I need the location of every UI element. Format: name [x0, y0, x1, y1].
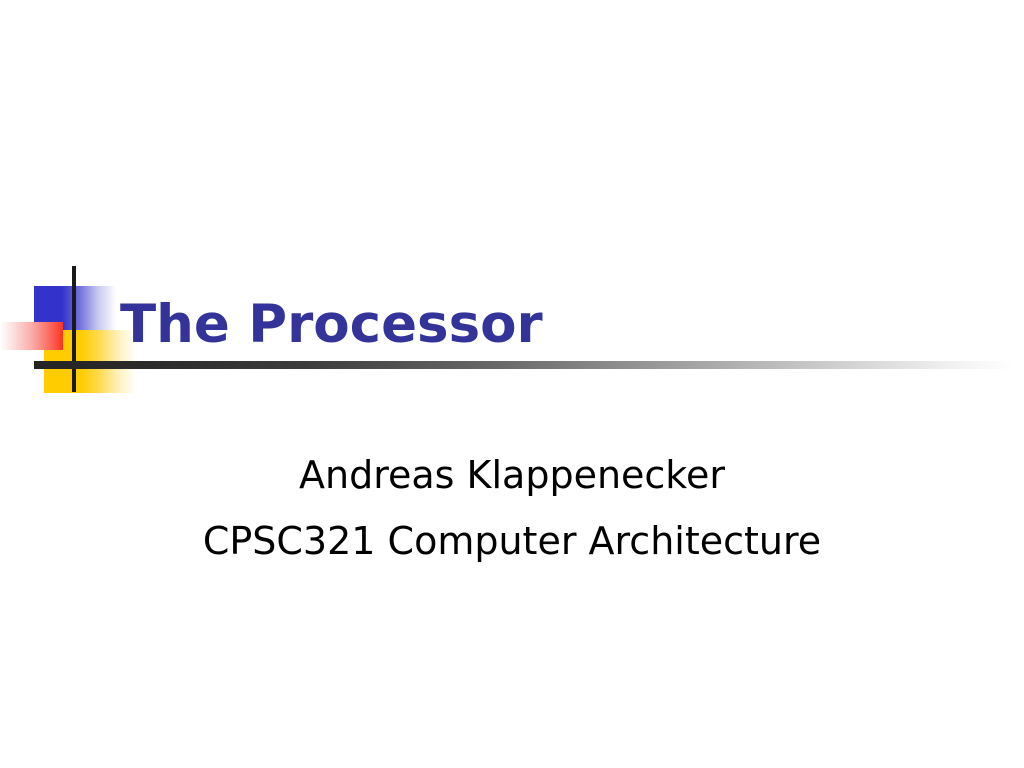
- blue-square-decoration: [34, 286, 116, 330]
- slide-subtitle: Andreas Klappenecker CPSC321 Computer Ar…: [0, 442, 1024, 574]
- red-band-decoration: [0, 322, 63, 350]
- subtitle-line-course: CPSC321 Computer Architecture: [0, 508, 1024, 574]
- vertical-rule-decoration: [72, 266, 76, 392]
- subtitle-line-author: Andreas Klappenecker: [0, 442, 1024, 508]
- horizontal-rule-divider: [34, 361, 1014, 369]
- slide-canvas: The Processor Andreas Klappenecker CPSC3…: [0, 0, 1024, 768]
- slide-title: The Processor: [120, 294, 543, 356]
